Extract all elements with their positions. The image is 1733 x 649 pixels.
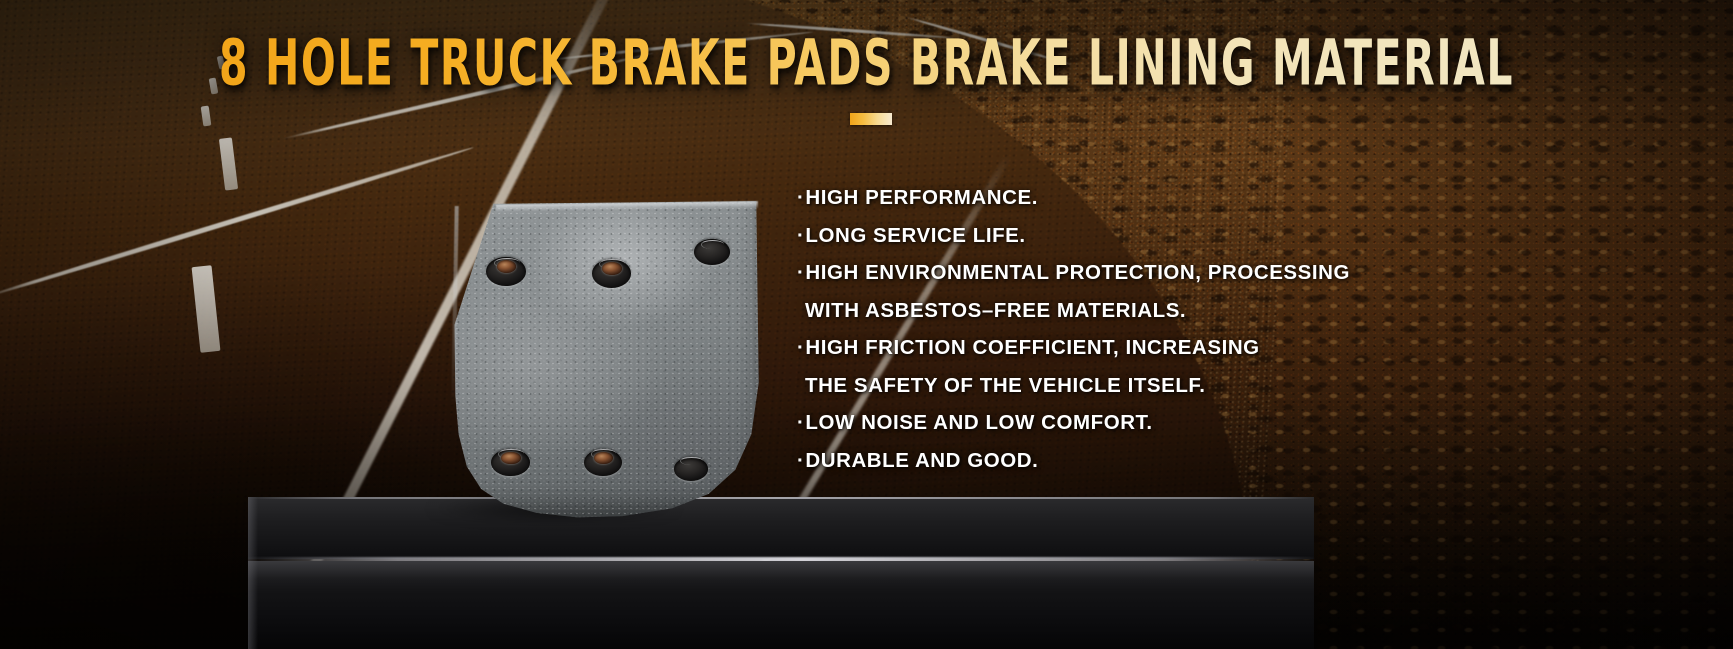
feature-item: ·HIGH PERFORMANCE. [797, 188, 1437, 209]
hole-rim [406, 237, 430, 246]
bullet-dot: · [797, 411, 804, 434]
bullet-dot: · [797, 449, 804, 472]
feature-list: ·HIGH PERFORMANCE. ·LONG SERVICE LIFE. ·… [797, 188, 1437, 471]
copper-rivet [501, 452, 520, 465]
feature-item-continuation: WITH ASBESTOS–FREE MATERIALS. [797, 301, 1437, 322]
gold-divider-bar [850, 113, 892, 125]
copper-rivet [594, 452, 613, 465]
bullet-dot: · [797, 224, 804, 247]
banner-headline: 8 HOLE TRUCK BRAKE PADS BRAKE LINING MAT… [219, 32, 1514, 95]
feature-text: HIGH PERFORMANCE. [805, 186, 1038, 209]
hole-rim [701, 240, 724, 249]
feature-text: HIGH FRICTION COEFFICIENT, INCREASING [805, 336, 1259, 359]
feature-item: ·HIGH FRICTION COEFFICIENT, INCREASING [797, 338, 1437, 359]
bullet-dot: · [797, 186, 804, 209]
feature-item: ·LOW NOISE AND LOW COMFORT. [797, 413, 1437, 434]
brake-pad-body [352, 196, 762, 518]
product-banner: 8 HOLE TRUCK BRAKE PADS BRAKE LINING MAT… [0, 0, 1733, 649]
bullet-dot: · [797, 336, 804, 359]
hole-rim [680, 457, 703, 465]
hole-rim [414, 454, 437, 462]
feature-item: ·LONG SERVICE LIFE. [797, 226, 1437, 247]
brake-lining-product [352, 196, 762, 526]
feature-text: DURABLE AND GOOD. [805, 449, 1038, 472]
feature-text: THE SAFETY OF THE VEHICLE ITSELF. [805, 374, 1205, 397]
feature-item: ·HIGH ENVIRONMENTAL PROTECTION, PROCESSI… [797, 263, 1437, 284]
headline-container: 8 HOLE TRUCK BRAKE PADS BRAKE LINING MAT… [0, 32, 1733, 79]
pedestal-front-sheen [248, 561, 1314, 591]
feature-text: WITH ASBESTOS–FREE MATERIALS. [805, 299, 1186, 322]
feature-text: HIGH ENVIRONMENTAL PROTECTION, PROCESSIN… [805, 261, 1350, 284]
rivet-hole-1 [399, 236, 435, 262]
pedestal-left-bevel [248, 497, 258, 649]
rivet-hole-5 [407, 454, 442, 478]
copper-rivet [602, 262, 622, 275]
bullet-dot: · [797, 261, 804, 284]
feature-text: LOW NOISE AND LOW COMFORT. [805, 411, 1152, 434]
copper-rivet [497, 260, 517, 273]
rivet-hole-2 [486, 257, 525, 286]
feature-item: ·DURABLE AND GOOD. [797, 451, 1437, 472]
copper-rivet [409, 239, 427, 251]
feature-text: LONG SERVICE LIFE. [805, 224, 1025, 247]
rivet-hole-3 [592, 259, 631, 288]
rivet-hole-4 [694, 239, 729, 265]
feature-item-continuation: THE SAFETY OF THE VEHICLE ITSELF. [797, 376, 1437, 397]
rivet-hole-8 [674, 457, 708, 481]
